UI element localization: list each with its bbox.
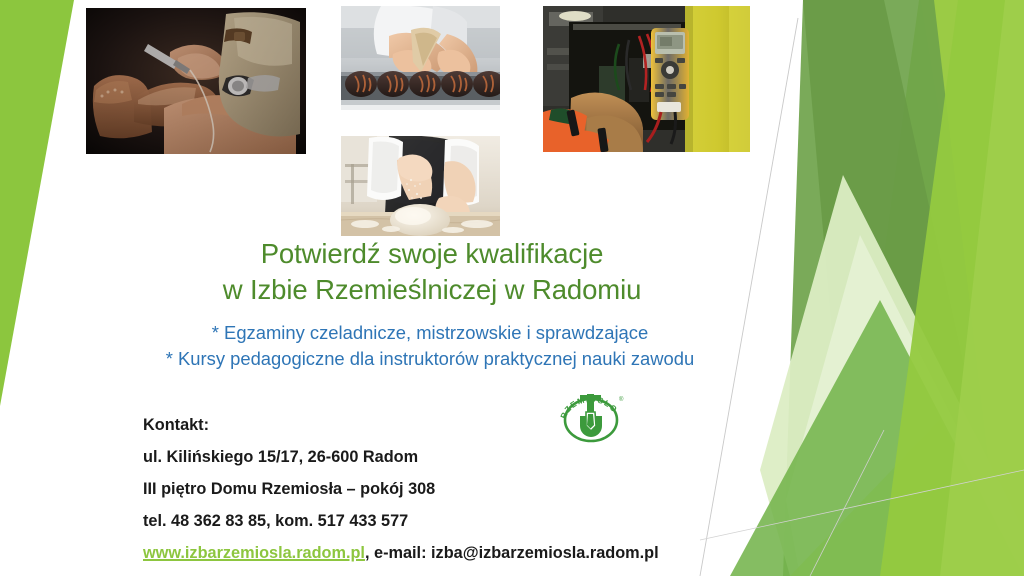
photo-shoemaker: [86, 8, 306, 154]
right-front-blade: [880, 0, 1024, 576]
contact-heading: Kontakt:: [143, 409, 659, 441]
right-bright-green-1: [905, 0, 1024, 576]
svg-text:®: ®: [619, 396, 624, 403]
left-green-wedge: [0, 0, 74, 406]
photo-electrician: [543, 6, 750, 152]
subtitle-line-1: * Egzaminy czeladnicze, mistrzowskie i s…: [80, 320, 780, 346]
email-address: izba@izbarzemiosla.radom.pl: [431, 544, 659, 562]
right-dark-green-band: [783, 0, 1002, 576]
contact-phone: tel. 48 362 83 85, kom. 517 433 577: [143, 505, 659, 537]
headline-line-2: w Izbie Rzemieślniczej w Radomiu: [96, 272, 768, 308]
photo-baker-dough: [341, 136, 500, 236]
page-title: Potwierdź swoje kwalifikacje w Izbie Rze…: [96, 236, 768, 308]
contact-block: Kontakt: ul. Kilińskiego 15/17, 26-600 R…: [143, 409, 659, 569]
right-front-blade-2: [940, 0, 1024, 576]
website-link[interactable]: www.izbarzemiosla.radom.pl: [143, 544, 365, 562]
right-pale-green-pane-2: [786, 235, 1024, 576]
right-dark-green-band-2: [803, 0, 1010, 576]
presentation-slide: Potwierdź swoje kwalifikacje w Izbie Rze…: [0, 0, 1024, 576]
photo-baker-pastry: [341, 6, 500, 110]
email-separator: , e-mail:: [365, 544, 431, 562]
right-mid-green-sweep-2: [790, 420, 1024, 576]
contact-web-email-line: www.izbarzemiosla.radom.pl, e-mail: izba…: [143, 537, 659, 569]
contact-address: ul. Kilińskiego 15/17, 26-600 Radom: [143, 441, 659, 473]
hairline-2: [700, 470, 1024, 540]
headline-line-1: Potwierdź swoje kwalifikacje: [261, 238, 604, 269]
subtitle-line-2: * Kursy pedagogiczne dla instruktorów pr…: [80, 346, 780, 372]
right-bright-green-3: [921, 0, 1024, 576]
hairline-3: [810, 430, 884, 576]
right-bright-green-2: [810, 0, 1024, 576]
contact-floor: III piętro Domu Rzemiosła – pokój 308: [143, 473, 659, 505]
right-pale-green-pane-1: [760, 175, 1024, 576]
right-deep-green-overlap: [840, 330, 1000, 576]
subtitle-list: * Egzaminy czeladnicze, mistrzowskie i s…: [80, 320, 780, 372]
